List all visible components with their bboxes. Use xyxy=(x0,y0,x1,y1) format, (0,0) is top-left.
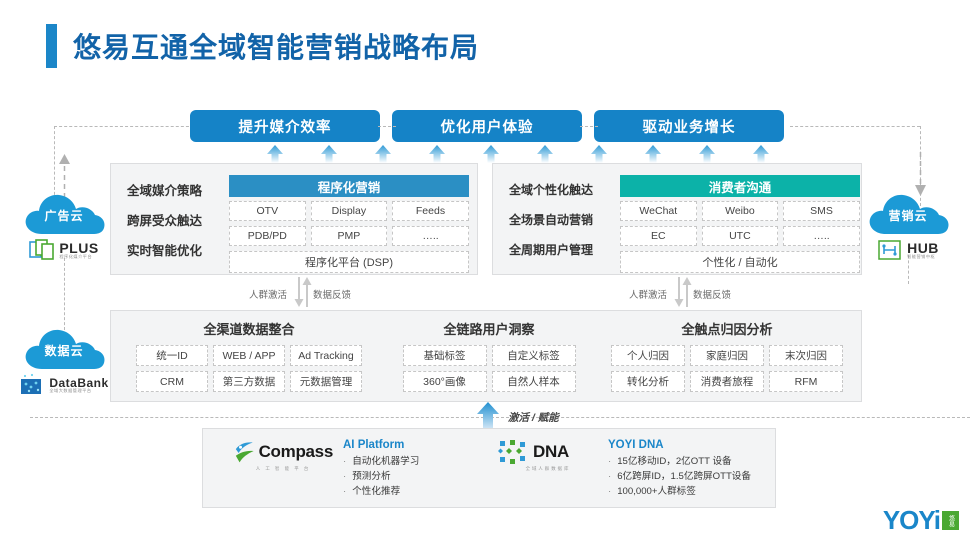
goal-button-user-experience[interactable]: 优化用户体验 xyxy=(392,110,582,142)
brand-plus: PLUS 程序化媒介平台 xyxy=(22,238,106,262)
block-dna: DNA 全域人群数据库 YOYI DNA ·15亿移动ID，2亿OTT 设备 ·… xyxy=(498,439,751,500)
data-group-chips-2: 个人归因 家庭归因 末次归因 转化分析 消费者旅程 RFM xyxy=(611,345,843,392)
brand-hub: HUB 智能营销中枢 xyxy=(866,238,950,262)
cloud-label-ads: 广告云 xyxy=(22,207,106,224)
flow-arrow-3 xyxy=(428,145,446,163)
media-chip-display[interactable]: Display xyxy=(311,201,388,221)
flow-arrow-6 xyxy=(590,145,608,163)
marketing-row-label-0: 全域个性化触达 xyxy=(509,174,621,204)
media-chip-pdb-pd[interactable]: PDB/PD xyxy=(229,226,306,246)
data-group-title-2: 全触点归因分析 xyxy=(611,319,843,338)
data-chip-crm[interactable]: CRM xyxy=(136,371,208,392)
plus-brand-text: PLUS 程序化媒介平台 xyxy=(59,241,98,259)
cloud-group-ads[interactable]: 广告云 PLUS 程序化媒介平台 xyxy=(22,190,106,262)
media-column-header: 程序化营销 xyxy=(229,175,469,197)
marketing-chip-utc[interactable]: UTC xyxy=(702,226,779,246)
data-chip-web-app[interactable]: WEB / APP xyxy=(213,345,285,366)
page-title: 悠易互通全域智能营销战略布局 xyxy=(73,26,479,66)
media-row-label-0: 全域媒介策略 xyxy=(127,174,222,204)
media-chip-grid: OTV Display Feeds PDB/PD PMP ….. 程序化平台 (… xyxy=(229,201,469,273)
plus-brand-name: PLUS xyxy=(59,241,98,255)
dna-text-block: YOYI DNA ·15亿移动ID，2亿OTT 设备 ·6亿跨屏ID，1.5亿跨… xyxy=(608,439,751,500)
compass-bullet-text-2: 个性化推荐 xyxy=(352,485,400,500)
compass-logo: Compass 人 工 智 能 平 台 xyxy=(233,439,333,472)
marketing-column-header: 消费者沟通 xyxy=(620,175,860,197)
data-group-user-insight: 全链路用户洞察 基础标签 自定义标签 360°画像 自然人样本 xyxy=(399,319,579,392)
data-chip-personal-attribution[interactable]: 个人归因 xyxy=(611,345,685,366)
bullet-dot-icon: · xyxy=(608,455,611,470)
data-chip-consumer-journey[interactable]: 消费者旅程 xyxy=(690,371,764,392)
cloud-icon: 广告云 xyxy=(22,190,106,236)
yoyi-brand-logo: YOYi 悠易 xyxy=(881,505,959,536)
marketing-chip-sms[interactable]: SMS xyxy=(783,201,860,221)
marketing-chip-weibo[interactable]: Weibo xyxy=(702,201,779,221)
panel-ai-and-dna: Compass 人 工 智 能 平 台 AI Platform ·自动化机器学习… xyxy=(202,428,776,508)
media-row-label-2: 实时智能优化 xyxy=(127,234,222,264)
data-chip-unified-id[interactable]: 统一ID xyxy=(136,345,208,366)
compass-logo-sub: 人 工 智 能 平 台 xyxy=(233,466,333,472)
frame-left-lower xyxy=(64,258,65,330)
bullet-dot-icon: · xyxy=(343,485,346,500)
yoyi-logo-text: YOYi xyxy=(883,505,940,536)
bullet-dot-icon: · xyxy=(608,485,611,500)
media-chip-pmp[interactable]: PMP xyxy=(311,226,388,246)
frame-left xyxy=(54,126,55,200)
flow-arrow-4 xyxy=(482,145,500,163)
dna-bullet-text-0: 15亿移动ID，2亿OTT 设备 xyxy=(617,455,731,470)
data-chip-360-profile[interactable]: 360°画像 xyxy=(403,371,487,392)
dna-logo-row: DNA xyxy=(498,439,598,465)
goal-button-business-growth[interactable]: 驱动业务增长 xyxy=(594,110,784,142)
hub-brand-sub: 智能营销中枢 xyxy=(907,255,939,259)
dna-bullet-text-2: 100,000+人群标签 xyxy=(617,485,696,500)
hub-logo-icon xyxy=(877,238,903,262)
data-group-omnichannel: 全渠道数据整合 统一ID WEB / APP Ad Tracking CRM 第… xyxy=(135,319,363,392)
compass-logo-name: Compass xyxy=(259,442,333,462)
dna-logo-name: DNA xyxy=(533,442,569,462)
marketing-chip-wechat[interactable]: WeChat xyxy=(620,201,697,221)
marketing-row-label-2: 全周期用户管理 xyxy=(509,234,621,264)
flow-arrow-1 xyxy=(320,145,338,163)
flow-arrow-2 xyxy=(374,145,392,163)
dna-bullet-0: ·15亿移动ID，2亿OTT 设备 xyxy=(608,455,751,470)
data-group-title-1: 全链路用户洞察 xyxy=(399,319,579,338)
data-chip-household-attribution[interactable]: 家庭归因 xyxy=(690,345,764,366)
dna-title: YOYI DNA xyxy=(608,439,751,451)
dna-mark-icon xyxy=(498,439,530,465)
bullet-dot-icon: · xyxy=(608,470,611,485)
dna-logo-sub: 全域人群数据库 xyxy=(498,466,598,472)
flow-arrow-9 xyxy=(752,145,770,163)
data-chip-conversion-analysis[interactable]: 转化分析 xyxy=(611,371,685,392)
dna-logo: DNA 全域人群数据库 xyxy=(498,439,598,472)
data-group-chips-1: 基础标签 自定义标签 360°画像 自然人样本 xyxy=(399,345,579,392)
frame-top-left xyxy=(54,126,194,127)
cloud-label-data: 数据云 xyxy=(22,342,106,359)
cloud-label-marketing: 营销云 xyxy=(866,207,950,224)
panel-data-layer: 全渠道数据整合 统一ID WEB / APP Ad Tracking CRM 第… xyxy=(110,310,862,402)
bullet-dot-icon: · xyxy=(343,455,346,470)
connector-arrows-left xyxy=(294,277,312,307)
data-chip-metadata[interactable]: 元数据管理 xyxy=(290,371,362,392)
compass-bullet-text-1: 预测分析 xyxy=(352,470,390,485)
hub-brand-name: HUB xyxy=(907,241,939,255)
connector-label-right-activate: 人群激活 xyxy=(629,287,667,301)
databank-brand-text: DataBank 全域大数据管理平台 xyxy=(49,377,108,393)
connector-label-right-feedback: 数据反馈 xyxy=(693,287,731,301)
data-group-title-0: 全渠道数据整合 xyxy=(135,319,363,338)
connector-arrows-right xyxy=(674,277,692,307)
media-chip-more[interactable]: ….. xyxy=(392,226,469,246)
yoyi-badge: 悠易 xyxy=(942,511,959,530)
compass-bullet-text-0: 自动化机器学习 xyxy=(352,455,419,470)
data-chip-basic-tags[interactable]: 基础标签 xyxy=(403,345,487,366)
cloud-icon: 营销云 xyxy=(866,190,950,236)
flow-arrow-0 xyxy=(266,145,284,163)
marketing-chip-personalization[interactable]: 个性化 / 自动化 xyxy=(620,251,860,273)
dna-bullet-1: ·6亿跨屏ID，1.5亿跨屏OTT设备 xyxy=(608,470,751,485)
cloud-icon: 数据云 xyxy=(22,325,106,371)
goal-connector-1 xyxy=(378,126,396,127)
brand-databank: DataBank 全域大数据管理平台 xyxy=(22,373,106,397)
data-group-attribution: 全触点归因分析 个人归因 家庭归因 末次归因 转化分析 消费者旅程 RFM xyxy=(611,319,843,392)
flow-arrow-7 xyxy=(644,145,662,163)
flow-arrow-8 xyxy=(698,145,716,163)
connector-label-left-activate: 人群激活 xyxy=(249,287,287,301)
goal-connector-2 xyxy=(580,126,598,127)
panel-consumer-communication: 全域个性化触达 全场景自动营销 全周期用户管理 消费者沟通 WeChat Wei… xyxy=(492,163,862,275)
dna-bullet-text-1: 6亿跨屏ID，1.5亿跨屏OTT设备 xyxy=(617,470,751,485)
compass-bullet-1: ·预测分析 xyxy=(343,470,419,485)
cloud-group-marketing[interactable]: 营销云 HUB 智能营销中枢 xyxy=(866,190,950,262)
compass-bullet-0: ·自动化机器学习 xyxy=(343,455,419,470)
data-group-chips-0: 统一ID WEB / APP Ad Tracking CRM 第三方数据 元数据… xyxy=(135,345,363,392)
marketing-chip-ec[interactable]: EC xyxy=(620,226,697,246)
dna-bullet-2: ·100,000+人群标签 xyxy=(608,485,751,500)
media-row-labels: 全域媒介策略 跨屏受众触达 实时智能优化 xyxy=(127,174,222,264)
page-header: 悠易互通全域智能营销战略布局 xyxy=(46,24,479,68)
bullet-dot-icon: · xyxy=(343,470,346,485)
data-chip-last-click-attribution[interactable]: 末次归因 xyxy=(769,345,843,366)
data-chip-ad-tracking[interactable]: Ad Tracking xyxy=(290,345,362,366)
media-row-label-1: 跨屏受众触达 xyxy=(127,204,222,234)
databank-logo-icon xyxy=(19,373,45,397)
media-chip-dsp-platform[interactable]: 程序化平台 (DSP) xyxy=(229,251,469,273)
media-chip-otv[interactable]: OTV xyxy=(229,201,306,221)
marketing-row-labels: 全域个性化触达 全场景自动营销 全周期用户管理 xyxy=(509,174,621,264)
panel-programmatic-media: 全域媒介策略 跨屏受众触达 实时智能优化 程序化营销 OTV Display F… xyxy=(110,163,478,275)
arrow-up-enablement xyxy=(476,402,500,430)
title-accent-bar xyxy=(46,24,57,68)
frame-top-right xyxy=(790,126,920,127)
marketing-chip-grid: WeChat Weibo SMS EC UTC ….. 个性化 / 自动化 xyxy=(620,201,860,273)
cloud-group-data[interactable]: 数据云 DataBank 全域大数据管理平台 xyxy=(22,325,106,397)
marketing-row-label-1: 全场景自动营销 xyxy=(509,204,621,234)
hub-brand-text: HUB 智能营销中枢 xyxy=(907,241,939,259)
connector-label-left-feedback: 数据反馈 xyxy=(313,287,351,301)
compass-logo-row: Compass xyxy=(233,439,333,465)
compass-mark-icon xyxy=(233,439,256,465)
block-compass: Compass 人 工 智 能 平 台 AI Platform ·自动化机器学习… xyxy=(233,439,419,500)
data-chip-third-party[interactable]: 第三方数据 xyxy=(213,371,285,392)
marketing-chip-more[interactable]: ….. xyxy=(783,226,860,246)
plus-logo-icon xyxy=(29,238,55,262)
data-chip-rfm[interactable]: RFM xyxy=(769,371,843,392)
compass-title: AI Platform xyxy=(343,439,419,451)
frame-bottom-divider xyxy=(30,417,970,418)
data-chip-natural-person-sample[interactable]: 自然人样本 xyxy=(492,371,576,392)
compass-text-block: AI Platform ·自动化机器学习 ·预测分析 ·个性化推荐 xyxy=(343,439,419,500)
connector-label-enablement: 激活 / 赋能 xyxy=(508,410,559,425)
media-chip-feeds[interactable]: Feeds xyxy=(392,201,469,221)
goal-button-media-efficiency[interactable]: 提升媒介效率 xyxy=(190,110,380,142)
flow-arrow-5 xyxy=(536,145,554,163)
data-chip-custom-tags[interactable]: 自定义标签 xyxy=(492,345,576,366)
compass-bullet-2: ·个性化推荐 xyxy=(343,485,419,500)
